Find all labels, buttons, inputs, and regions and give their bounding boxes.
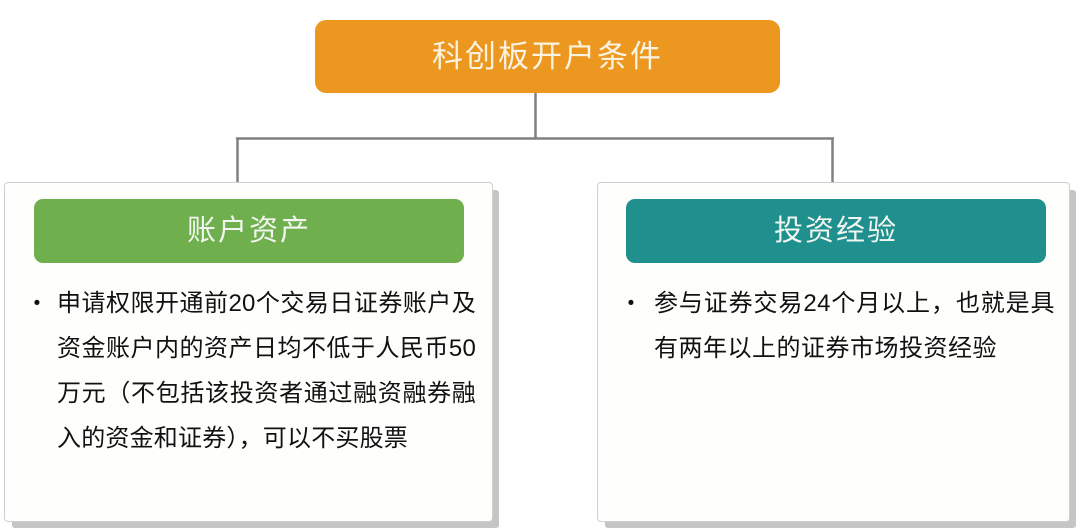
root-node-label: 科创板开户条件 — [432, 41, 663, 72]
bullet-marker-icon: • — [608, 281, 654, 326]
branch-card-investment-experience[interactable]: 投资经验 • 参与证券交易24个月以上，也就是具有两年以上的证券市场投资经验 — [597, 182, 1070, 522]
branch-header-account-assets: 账户资产 — [34, 199, 464, 263]
bullet-text: 参与证券交易24个月以上，也就是具有两年以上的证券市场投资经验 — [654, 281, 1055, 371]
branch-header-label: 账户资产 — [187, 217, 311, 246]
root-node-科创板开户条件[interactable]: 科创板开户条件 — [315, 20, 780, 93]
list-item: • 申请权限开通前20个交易日证券账户及资金账户内的资产日均不低于人民币50万元… — [5, 281, 492, 461]
bullet-list-investment-experience: • 参与证券交易24个月以上，也就是具有两年以上的证券市场投资经验 — [598, 281, 1069, 371]
bullet-marker-icon: • — [17, 281, 57, 326]
diagram-canvas: 科创板开户条件 账户资产 • 申请权限开通前20个交易日证券账户及资金账户内的资… — [0, 0, 1080, 529]
bullet-text: 申请权限开通前20个交易日证券账户及资金账户内的资产日均不低于人民币50万元（不… — [57, 281, 476, 461]
bullet-list-account-assets: • 申请权限开通前20个交易日证券账户及资金账户内的资产日均不低于人民币50万元… — [5, 281, 492, 461]
list-item: • 参与证券交易24个月以上，也就是具有两年以上的证券市场投资经验 — [598, 281, 1069, 371]
branch-header-investment-experience: 投资经验 — [626, 199, 1046, 263]
branch-header-label: 投资经验 — [774, 217, 898, 246]
branch-card-account-assets[interactable]: 账户资产 • 申请权限开通前20个交易日证券账户及资金账户内的资产日均不低于人民… — [4, 182, 493, 522]
